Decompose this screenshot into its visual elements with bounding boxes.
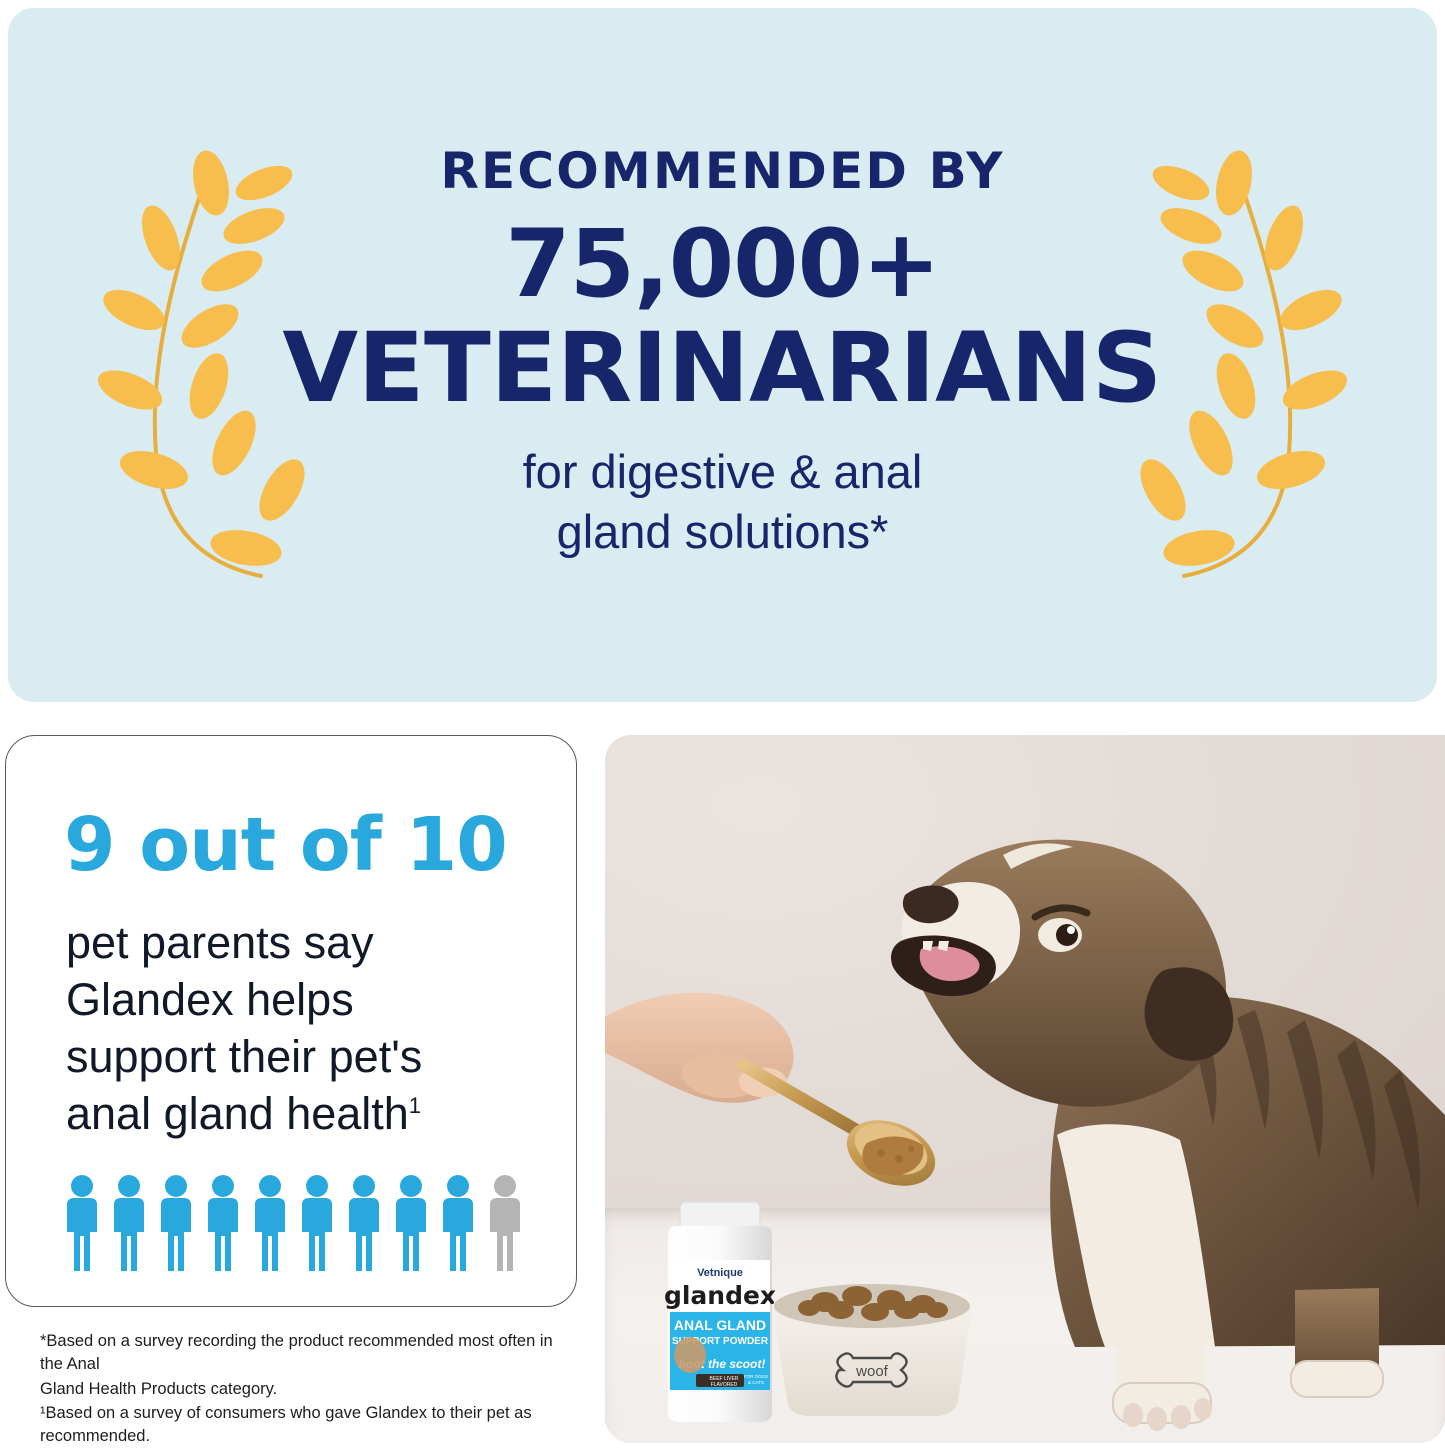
stat-body-line-1: pet parents say bbox=[66, 914, 556, 971]
stat-body-line-4-text: anal gland health bbox=[66, 1088, 409, 1139]
hand-with-spoon bbox=[605, 993, 945, 1198]
person-icon bbox=[61, 1174, 103, 1271]
footnotes: *Based on a survey recording the product… bbox=[40, 1330, 580, 1450]
footnote-line-1: *Based on a survey recording the product… bbox=[40, 1330, 580, 1376]
headline-kicker: RECOMMENDED BY bbox=[440, 146, 1004, 196]
person-icon bbox=[390, 1174, 432, 1271]
person-icon bbox=[437, 1174, 479, 1271]
headline-audience: VETERINARIANS bbox=[283, 320, 1162, 416]
footnote-line-2: Gland Health Products category. bbox=[40, 1378, 580, 1401]
spoon-icon bbox=[743, 1065, 945, 1198]
person-icon bbox=[202, 1174, 244, 1271]
person-icon bbox=[249, 1174, 291, 1271]
stat-body-line-2: Glandex helps bbox=[66, 971, 556, 1028]
headline-subtitle-line2: gland solutions* bbox=[523, 502, 923, 562]
stat-body-line-4: anal gland health1 bbox=[66, 1085, 556, 1142]
bottle-species-badge-2: & CATS bbox=[748, 1380, 764, 1385]
stat-body-text: pet parents say Glandex helps support th… bbox=[66, 914, 556, 1143]
person-icon bbox=[155, 1174, 197, 1271]
pet-parent-stat-card: 9 out of 10 pet parents say Glandex help… bbox=[5, 735, 577, 1307]
person-icon-muted bbox=[484, 1174, 526, 1271]
bottle-subtitle-1: ANAL GLAND bbox=[674, 1317, 766, 1333]
headline-subtitle-line1: for digestive & anal bbox=[523, 442, 923, 502]
headline-number: 75,000+ bbox=[505, 218, 940, 312]
bottle-flavor-badge-2: FLAVORED bbox=[711, 1382, 738, 1388]
product-lifestyle-photo: Vetnique glandex ANAL GLAND SUPPORT POWD… bbox=[605, 735, 1445, 1443]
headline-subtitle: for digestive & anal gland solutions* bbox=[523, 442, 923, 562]
banner-headline-group: RECOMMENDED BY 75,000+ VETERINARIANS for… bbox=[8, 146, 1437, 562]
stat-headline: 9 out of 10 bbox=[64, 808, 507, 882]
stat-body-line-3: support their pet's bbox=[66, 1028, 556, 1085]
footnote-marker: 1 bbox=[409, 1093, 421, 1118]
bottle-product-name: glandex bbox=[664, 1281, 776, 1310]
people-pictogram bbox=[61, 1174, 526, 1271]
bowl-engraving: woof bbox=[855, 1363, 889, 1380]
person-icon bbox=[296, 1174, 338, 1271]
person-icon bbox=[108, 1174, 150, 1271]
footnote-line-3: ¹Based on a survey of consumers who gave… bbox=[40, 1402, 580, 1448]
bottle-brand: Vetnique bbox=[697, 1267, 743, 1279]
recommended-banner: RECOMMENDED BY 75,000+ VETERINARIANS for… bbox=[8, 8, 1437, 702]
dog-food-bowl: woof bbox=[765, 1280, 980, 1422]
person-icon bbox=[343, 1174, 385, 1271]
page-root: RECOMMENDED BY 75,000+ VETERINARIANS for… bbox=[0, 0, 1445, 1443]
